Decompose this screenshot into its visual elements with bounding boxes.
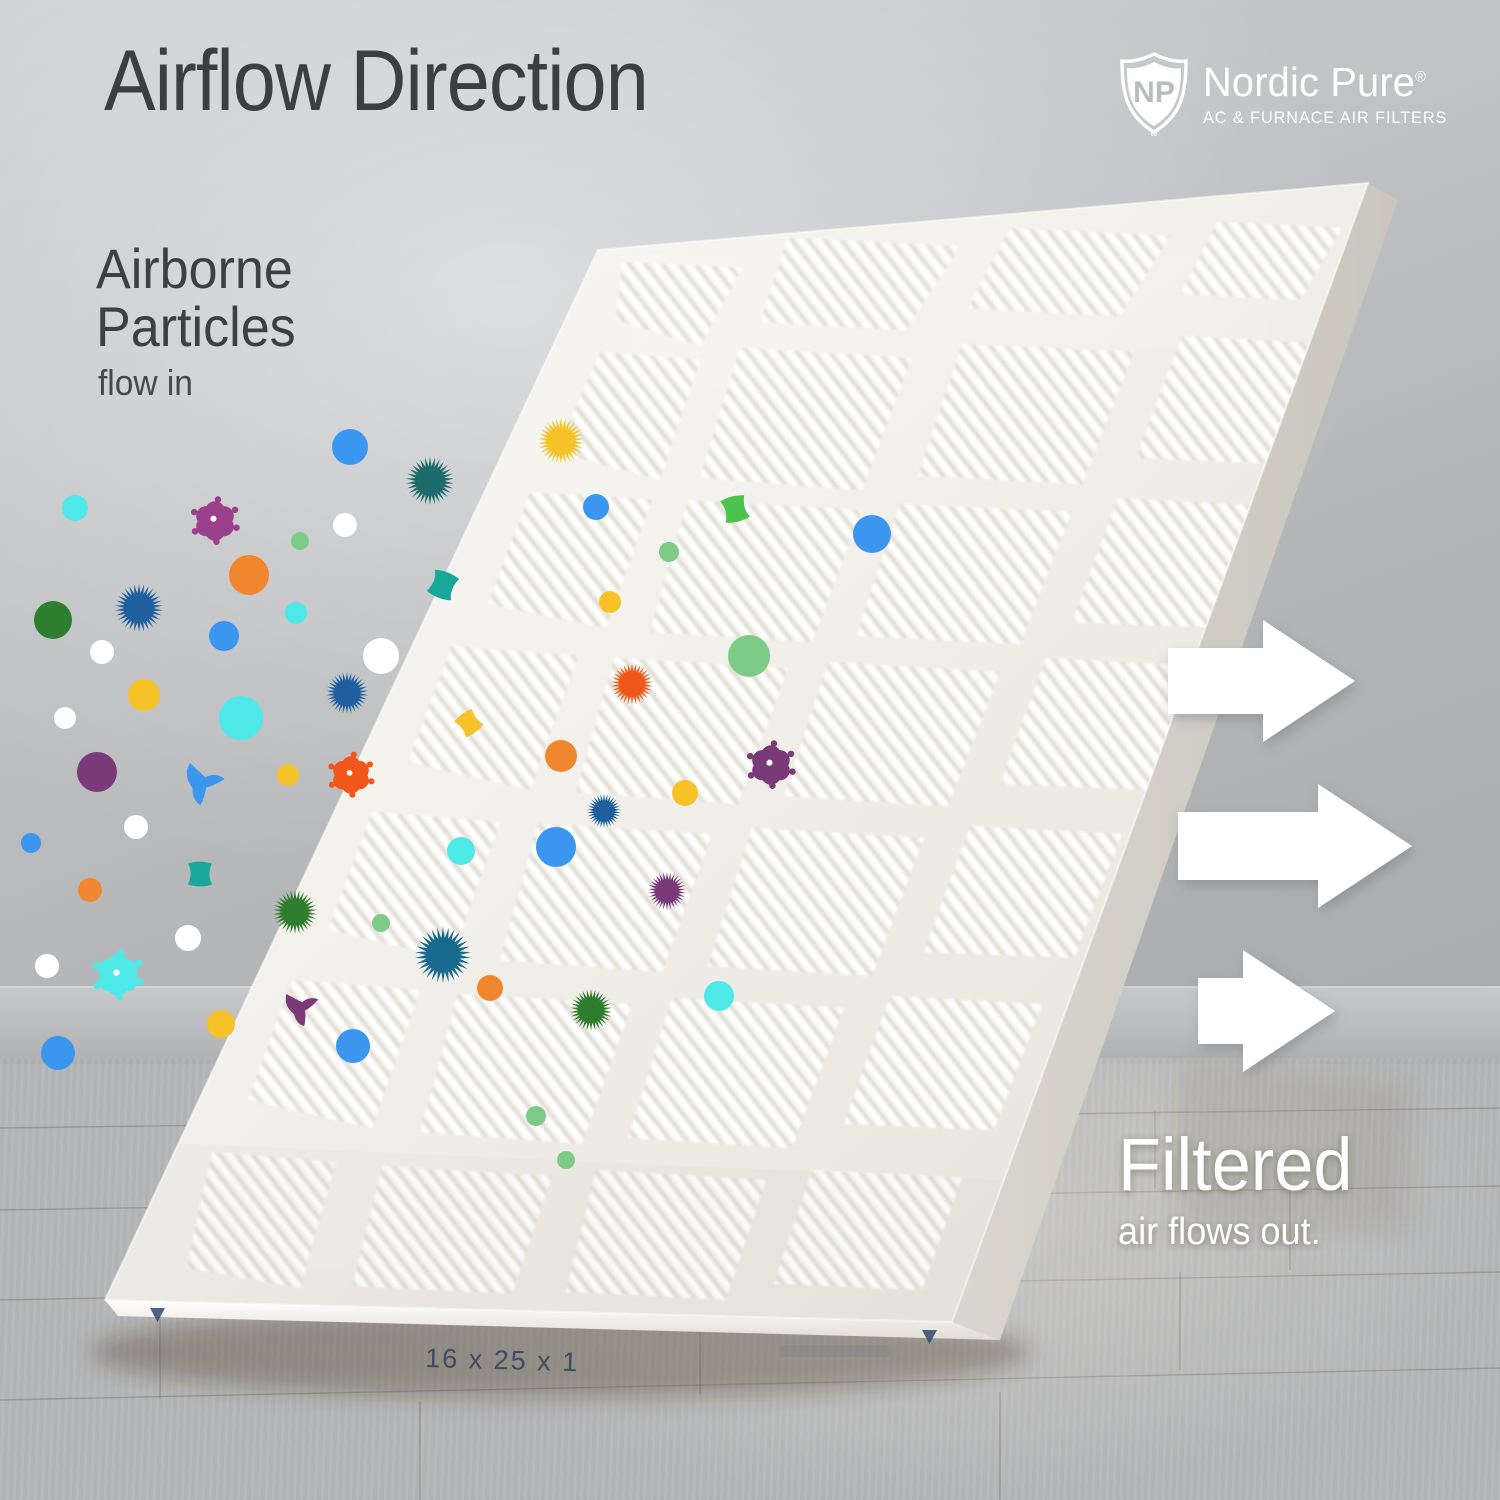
particle-dot xyxy=(54,707,76,729)
particle-spiky xyxy=(587,794,621,828)
particle-dot xyxy=(526,1106,546,1126)
particle-dot xyxy=(291,532,309,550)
particle-germ xyxy=(93,949,144,1000)
particle-dot xyxy=(545,740,577,772)
particle-dot xyxy=(447,837,475,865)
particle-dot xyxy=(229,555,269,595)
particle-dot xyxy=(209,621,239,651)
particle-dot xyxy=(21,833,41,853)
particle-dot xyxy=(41,1036,75,1070)
particle-spiky xyxy=(538,418,584,464)
particle-dot xyxy=(77,752,117,792)
particle-dot xyxy=(336,1029,370,1063)
particle-dot xyxy=(219,696,263,740)
particle-dot xyxy=(477,975,503,1001)
particle-spiky xyxy=(406,457,454,505)
particle-spiky xyxy=(115,584,163,632)
particle-spiky xyxy=(611,663,653,705)
filtered-callout: Filtered air flows out. xyxy=(1118,1128,1365,1254)
particle-dot xyxy=(207,1010,235,1038)
particle-dot xyxy=(333,513,357,537)
particle-germ xyxy=(191,496,240,545)
particle-rod xyxy=(453,707,484,738)
particle-dot xyxy=(583,494,609,520)
infographic-canvas: Airflow Direction Airborne Particles flo… xyxy=(0,0,1500,1500)
particle-dot xyxy=(35,954,59,978)
particle-dot xyxy=(672,780,698,806)
particle-spiky xyxy=(570,989,612,1031)
particle-dot xyxy=(124,815,148,839)
particle-dot xyxy=(599,591,621,613)
particle-germ xyxy=(328,752,374,798)
particle-spiky xyxy=(273,890,317,934)
filtered-subline: air flows out. xyxy=(1118,1212,1352,1254)
particle-spiky xyxy=(415,927,471,983)
particle-dot xyxy=(175,925,201,951)
particle-rod xyxy=(188,862,212,887)
particle-rod xyxy=(426,568,460,602)
particle-dot xyxy=(78,878,102,902)
particle-dot xyxy=(363,638,399,674)
particle-dot xyxy=(285,602,307,624)
particle-dot xyxy=(62,495,88,521)
particle-yshape xyxy=(177,763,225,810)
particle-dot xyxy=(332,429,368,465)
particle-dot xyxy=(557,1151,575,1169)
particle-dot xyxy=(90,640,114,664)
particle-dot xyxy=(34,601,72,639)
particle-dot xyxy=(372,914,390,932)
particle-spiky xyxy=(326,672,368,714)
particle-yshape xyxy=(284,994,319,1027)
particle-germ xyxy=(747,740,796,789)
particle-dot xyxy=(659,542,679,562)
particle-spiky xyxy=(648,872,686,910)
particle-dot xyxy=(536,827,576,867)
particle-rod xyxy=(720,493,751,524)
particle-dot xyxy=(277,764,299,786)
airborne-particle-cloud xyxy=(0,0,1500,1500)
particle-dot xyxy=(853,515,891,553)
particle-dot xyxy=(704,981,734,1011)
filtered-headline: Filtered xyxy=(1118,1128,1352,1202)
particle-dot xyxy=(128,679,160,711)
particle-dot xyxy=(728,635,770,677)
